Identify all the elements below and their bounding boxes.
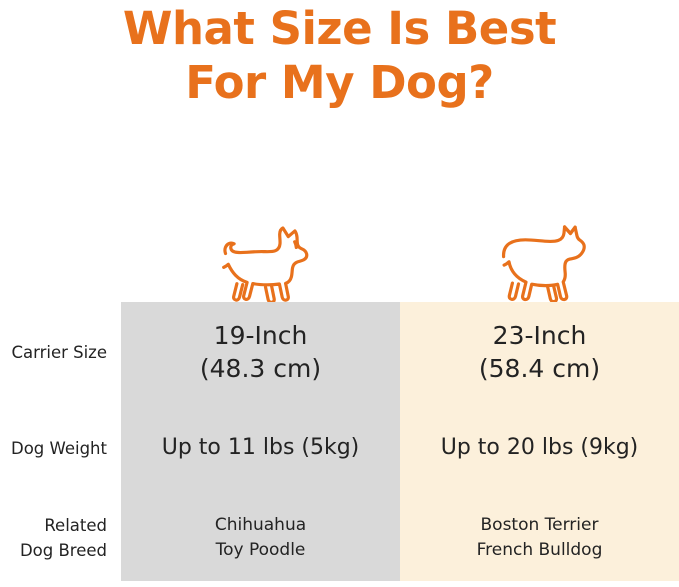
row-label-carrier-size: Carrier Size bbox=[0, 302, 121, 402]
table-row: Related Dog Breed Chihuahua Toy Poodle B… bbox=[0, 494, 679, 581]
dog-icon-cell-medium bbox=[400, 205, 679, 302]
cell-line: Boston Terrier bbox=[481, 515, 599, 535]
size-comparison-table: Carrier Size 19-Inch (48.3 cm) 23-Inch (… bbox=[0, 302, 679, 581]
cell-line: (48.3 cm) bbox=[200, 354, 321, 383]
cell-line: Up to 20 lbs (9kg) bbox=[441, 433, 639, 463]
table-row: Dog Weight Up to 11 lbs (5kg) Up to 20 l… bbox=[0, 402, 679, 494]
cell-dog-weight-small: Up to 11 lbs (5kg) bbox=[121, 402, 400, 494]
chihuahua-dog-icon bbox=[213, 218, 309, 302]
cell-carrier-size-medium: 23-Inch (58.4 cm) bbox=[400, 302, 679, 402]
page-title-line-1: What Size Is Best bbox=[0, 2, 679, 56]
cell-line: Chihuahua bbox=[215, 515, 306, 535]
page-title-line-2: For My Dog? bbox=[0, 56, 679, 110]
cell-line: 19-Inch bbox=[214, 321, 308, 350]
cell-line: French Bulldog bbox=[477, 540, 603, 560]
french-bulldog-dog-icon bbox=[493, 220, 587, 302]
cell-line: Toy Poodle bbox=[216, 540, 306, 560]
row-label-dog-weight: Dog Weight bbox=[0, 402, 121, 494]
cell-dog-weight-medium: Up to 20 lbs (9kg) bbox=[400, 402, 679, 494]
cell-line: Up to 11 lbs (5kg) bbox=[162, 433, 360, 463]
cell-line: 23-Inch bbox=[493, 321, 587, 350]
cell-carrier-size-small: 19-Inch (48.3 cm) bbox=[121, 302, 400, 402]
row-label-related-dog-breed: Related Dog Breed bbox=[0, 494, 121, 581]
dog-icon-row bbox=[121, 205, 679, 302]
label-line: Dog Breed bbox=[20, 541, 107, 560]
cell-related-breed-medium: Boston Terrier French Bulldog bbox=[400, 494, 679, 581]
cell-line: (58.4 cm) bbox=[479, 354, 600, 383]
dog-icon-cell-small bbox=[121, 205, 400, 302]
cell-related-breed-small: Chihuahua Toy Poodle bbox=[121, 494, 400, 581]
table-row: Carrier Size 19-Inch (48.3 cm) 23-Inch (… bbox=[0, 302, 679, 402]
label-line: Related bbox=[44, 516, 107, 535]
page-title: What Size Is Best For My Dog? bbox=[0, 2, 679, 110]
